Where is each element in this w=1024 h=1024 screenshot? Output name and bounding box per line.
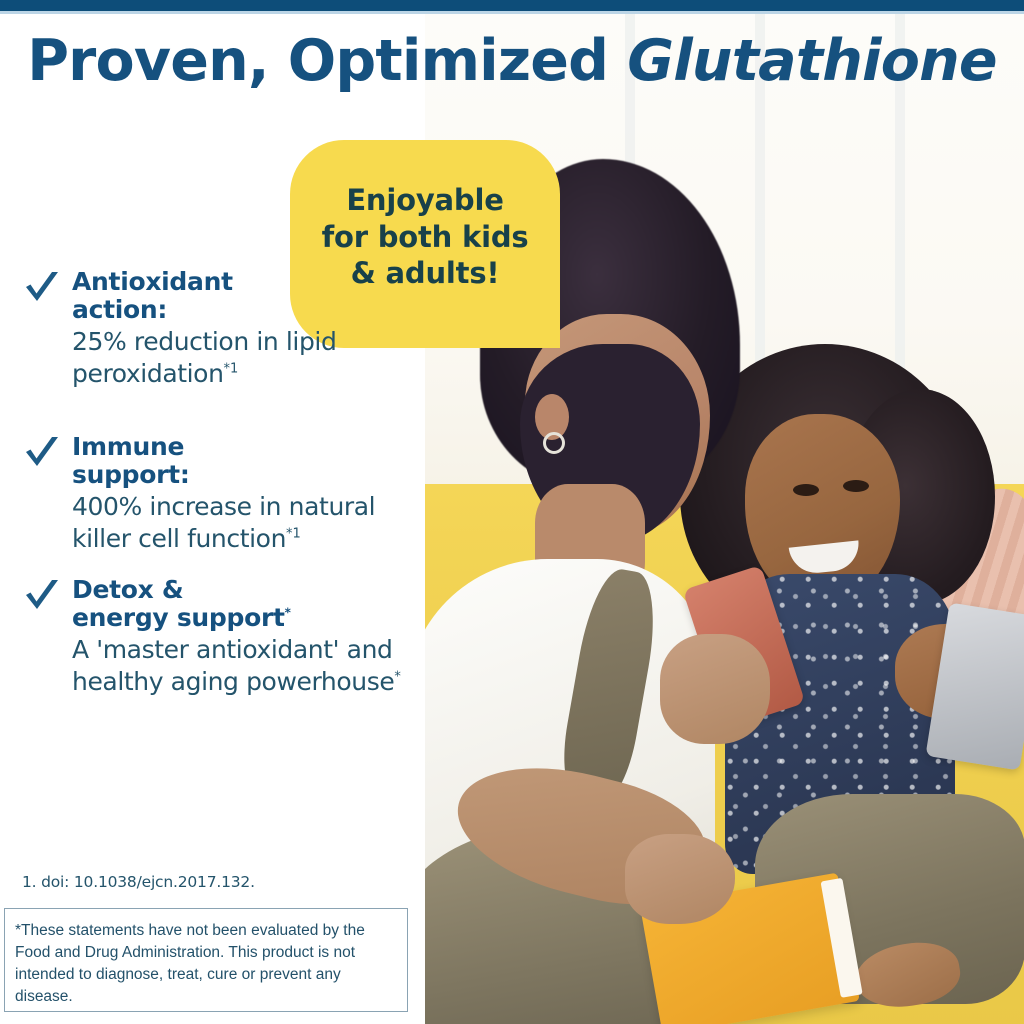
benefit-body-superscript: *1	[286, 526, 301, 541]
benefit-title-superscript: *	[285, 606, 291, 620]
callout-line-2: for both kids	[290, 219, 560, 256]
infographic-canvas: Proven, Optimized Glutathione Enjoyable …	[0, 0, 1024, 1024]
benefit-body-text: A 'master antioxidant' and healthy aging…	[72, 635, 394, 696]
mother-hand-holding-phone	[660, 634, 770, 744]
benefit-title-line-2: energy support	[72, 603, 285, 632]
mother-earring	[543, 432, 565, 454]
callout-line-1: Enjoyable	[290, 182, 560, 219]
check-icon	[22, 578, 62, 618]
benefit-body: 25% reduction in lipid peroxidation*1	[72, 326, 412, 389]
fda-disclaimer-text: *These statements have not been evaluate…	[5, 909, 407, 1008]
benefit-item-detox: Detox & energy support* A 'master antiox…	[22, 576, 412, 697]
benefit-title: Immune support:	[72, 433, 412, 489]
benefit-body: 400% increase in natural killer cell fun…	[72, 491, 412, 554]
benefit-body: A 'master antioxidant' and healthy aging…	[72, 634, 412, 697]
benefit-title-line-1: Detox &	[72, 575, 183, 604]
fda-disclaimer-box: *These statements have not been evaluate…	[4, 908, 408, 1012]
benefits-list: Antioxidant action: 25% reduction in lip…	[22, 268, 412, 723]
benefit-title-line-1: Antioxidant	[72, 267, 233, 296]
benefit-title: Antioxidant action:	[72, 268, 412, 324]
page-title: Proven, Optimized Glutathione	[0, 32, 1024, 92]
daughter-eye	[843, 480, 869, 492]
benefit-title-line-2: action:	[72, 295, 167, 324]
benefit-body-superscript: *	[394, 669, 401, 684]
benefit-body-text: 25% reduction in lipid peroxidation	[72, 327, 336, 388]
benefit-title: Detox & energy support*	[72, 576, 412, 632]
benefit-title-line-1: Immune	[72, 432, 184, 461]
page-title-italic: Glutathione	[627, 28, 997, 94]
mother-hand-on-book	[625, 834, 735, 924]
page-title-regular: Proven, Optimized	[27, 28, 627, 94]
benefit-body-superscript: *1	[224, 361, 239, 376]
check-icon	[22, 270, 62, 310]
citation-reference: 1. doi: 10.1038/ejcn.2017.132.	[22, 873, 255, 891]
daughter-eye	[793, 484, 819, 496]
check-icon	[22, 435, 62, 475]
benefit-item-antioxidant: Antioxidant action: 25% reduction in lip…	[22, 268, 412, 389]
benefit-title-line-2: support:	[72, 460, 190, 489]
top-accent-bar	[0, 0, 1024, 11]
benefit-body-text: 400% increase in natural killer cell fun…	[72, 492, 375, 553]
benefit-item-immune: Immune support: 400% increase in natural…	[22, 433, 412, 554]
